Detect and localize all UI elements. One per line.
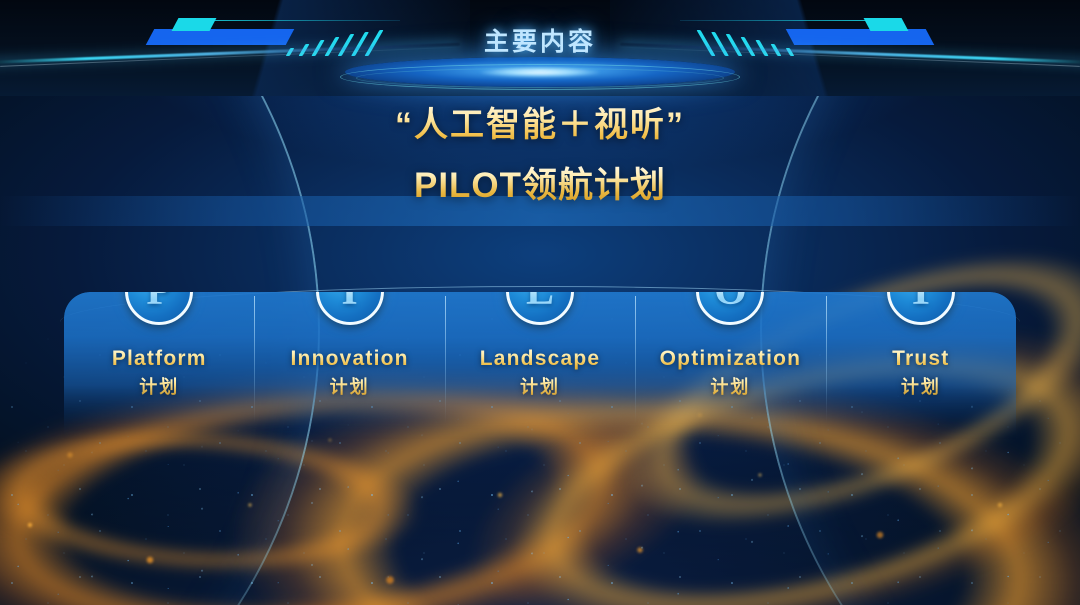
card-title-cn: 计划 xyxy=(520,373,560,399)
presentation-slide: 主要内容 “人工智能＋视听” PILOT领航计划 P Platform 计划 技… xyxy=(0,0,1080,605)
card-platform[interactable]: P Platform 计划 技术平台 xyxy=(64,292,254,442)
badge-p-icon: P xyxy=(125,257,193,325)
card-title-en: Optimization xyxy=(660,347,802,371)
card-tag: 服务优化 xyxy=(683,447,777,479)
deco-line-icon xyxy=(680,20,880,21)
card-title-cn: 计划 xyxy=(710,373,750,399)
hero-title-line1: “人工智能＋视听” xyxy=(0,103,1080,149)
deco-line-icon xyxy=(200,20,400,21)
badge-l-icon: L xyxy=(506,257,574,325)
card-tag: 安全信任 xyxy=(874,447,968,479)
hero-title: “人工智能＋视听” PILOT领航计划 xyxy=(0,103,1080,208)
card-tag: 内容创新 xyxy=(303,447,397,479)
card-trust[interactable]: T Trust 计划 安全信任 xyxy=(826,292,1016,442)
badge-i-icon: I xyxy=(316,257,384,325)
header-title: 主要内容 xyxy=(0,22,1080,58)
hero-title-line2: PILOT领航计划 xyxy=(0,163,1080,209)
card-tag: 技术平台 xyxy=(112,447,206,479)
badge-letter: I xyxy=(341,270,357,312)
card-tag: 场景赋能 xyxy=(493,447,587,479)
badge-letter: T xyxy=(907,270,935,312)
card-optimization[interactable]: O Optimization 计划 服务优化 xyxy=(635,292,825,442)
badge-letter: O xyxy=(714,270,747,312)
stage-glow xyxy=(480,68,600,77)
card-title-en: Trust xyxy=(892,347,949,371)
slide-header: 主要内容 xyxy=(0,0,1080,96)
card-title-cn: 计划 xyxy=(139,373,179,399)
card-title-en: Landscape xyxy=(480,347,601,371)
badge-o-icon: O xyxy=(696,257,764,325)
badge-letter: L xyxy=(526,270,554,312)
badge-t-icon: T xyxy=(887,257,955,325)
pilot-cards: P Platform 计划 技术平台 I Innovation 计划 内容创新 … xyxy=(64,292,1016,442)
card-title-en: Platform xyxy=(112,347,207,371)
card-title-cn: 计划 xyxy=(901,373,941,399)
card-title-cn: 计划 xyxy=(330,373,370,399)
card-title-en: Innovation xyxy=(291,347,409,371)
badge-letter: P xyxy=(146,270,172,312)
card-innovation[interactable]: I Innovation 计划 内容创新 xyxy=(254,292,444,442)
card-landscape[interactable]: L Landscape 计划 场景赋能 xyxy=(445,292,635,442)
